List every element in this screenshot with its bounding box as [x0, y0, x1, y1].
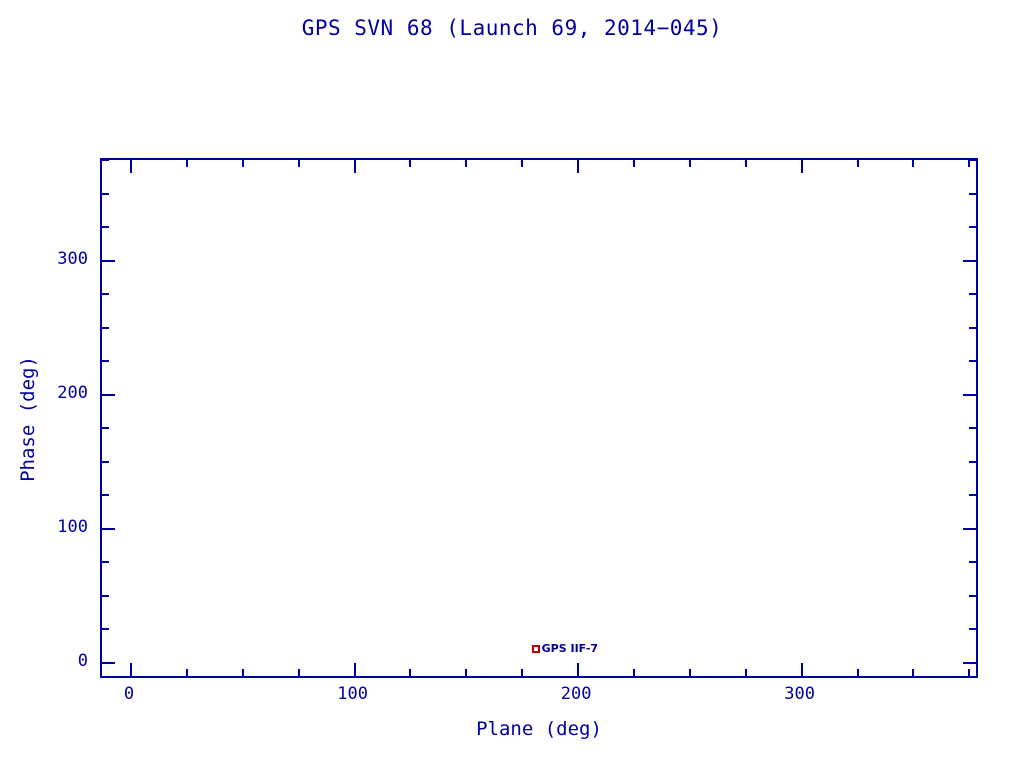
y-axis-tick	[102, 628, 109, 630]
x-axis-tick	[912, 669, 914, 676]
y-axis-tick	[102, 226, 109, 228]
y-axis-tick-right	[969, 561, 976, 563]
y-axis-tick	[102, 427, 109, 429]
y-axis-tick	[102, 360, 109, 362]
y-tick-label: 200	[57, 383, 88, 403]
x-axis-tick	[633, 669, 635, 676]
x-axis-tick	[409, 669, 411, 676]
data-point-marker	[532, 645, 540, 653]
y-axis-tick-right	[963, 528, 976, 530]
y-axis-tick-right	[969, 628, 976, 630]
x-axis-tick-top	[801, 160, 803, 173]
y-axis-tick	[102, 327, 109, 329]
y-axis-tick	[102, 159, 109, 161]
x-axis-tick	[857, 669, 859, 676]
x-axis-tick	[186, 669, 188, 676]
y-axis-tick-right	[969, 327, 976, 329]
x-axis-tick	[521, 669, 523, 676]
y-axis-label: Phase (deg)	[17, 199, 39, 639]
x-axis-tick	[968, 669, 970, 676]
x-axis-tick-top	[689, 160, 691, 167]
y-axis-tick	[102, 293, 109, 295]
chart-figure: GPS SVN 68 (Launch 69, 2014−045) GPS IIF…	[0, 0, 1024, 768]
y-axis-tick	[102, 394, 115, 396]
y-axis-tick-right	[963, 260, 976, 262]
y-axis-tick	[102, 461, 109, 463]
y-axis-tick-right	[969, 193, 976, 195]
plot-frame: GPS IIF-7	[100, 158, 978, 678]
y-axis-tick-right	[969, 293, 976, 295]
x-axis-tick	[801, 663, 803, 676]
x-axis-tick	[242, 669, 244, 676]
plot-area: GPS IIF-7	[102, 160, 976, 676]
x-axis-tick	[689, 669, 691, 676]
x-axis-tick-top	[633, 160, 635, 167]
y-axis-tick	[102, 662, 115, 664]
y-axis-tick-right	[969, 360, 976, 362]
y-axis-tick	[102, 595, 109, 597]
x-axis-tick-top	[298, 160, 300, 167]
x-tick-label: 0	[124, 684, 134, 704]
x-axis-tick-top	[968, 160, 970, 167]
y-axis-tick	[102, 528, 115, 530]
y-axis-tick	[102, 494, 109, 496]
x-axis-tick-top	[745, 160, 747, 167]
x-axis-tick-top	[912, 160, 914, 167]
x-axis-tick	[354, 663, 356, 676]
y-axis-tick	[102, 193, 109, 195]
y-tick-label: 0	[78, 651, 88, 671]
x-axis-label: Plane (deg)	[100, 718, 978, 740]
y-axis-tick-right	[969, 461, 976, 463]
x-axis-tick-top	[130, 160, 132, 173]
x-tick-label: 300	[784, 684, 815, 704]
x-axis-tick	[745, 669, 747, 676]
x-axis-tick	[577, 663, 579, 676]
y-axis-tick-right	[963, 662, 976, 664]
y-axis-tick-right	[963, 394, 976, 396]
x-axis-tick-top	[186, 160, 188, 167]
x-tick-label: 100	[337, 684, 368, 704]
y-tick-label: 300	[57, 249, 88, 269]
x-axis-tick-top	[354, 160, 356, 173]
y-axis-tick-right	[969, 427, 976, 429]
y-axis-tick-right	[969, 494, 976, 496]
x-axis-tick-top	[577, 160, 579, 173]
x-axis-tick-top	[465, 160, 467, 167]
x-axis-tick-top	[242, 160, 244, 167]
y-axis-tick-right	[969, 159, 976, 161]
x-axis-tick	[130, 663, 132, 676]
y-axis-tick	[102, 260, 115, 262]
x-axis-tick	[298, 669, 300, 676]
data-point-label: GPS IIF-7	[542, 642, 598, 655]
page-title: GPS SVN 68 (Launch 69, 2014−045)	[0, 16, 1024, 40]
y-axis-tick-right	[969, 595, 976, 597]
x-axis-tick	[465, 669, 467, 676]
y-axis-tick	[102, 561, 109, 563]
y-tick-label: 100	[57, 517, 88, 537]
x-axis-tick-top	[409, 160, 411, 167]
x-axis-tick-top	[521, 160, 523, 167]
y-axis-tick-right	[969, 226, 976, 228]
x-axis-tick-top	[857, 160, 859, 167]
x-tick-label: 200	[561, 684, 592, 704]
